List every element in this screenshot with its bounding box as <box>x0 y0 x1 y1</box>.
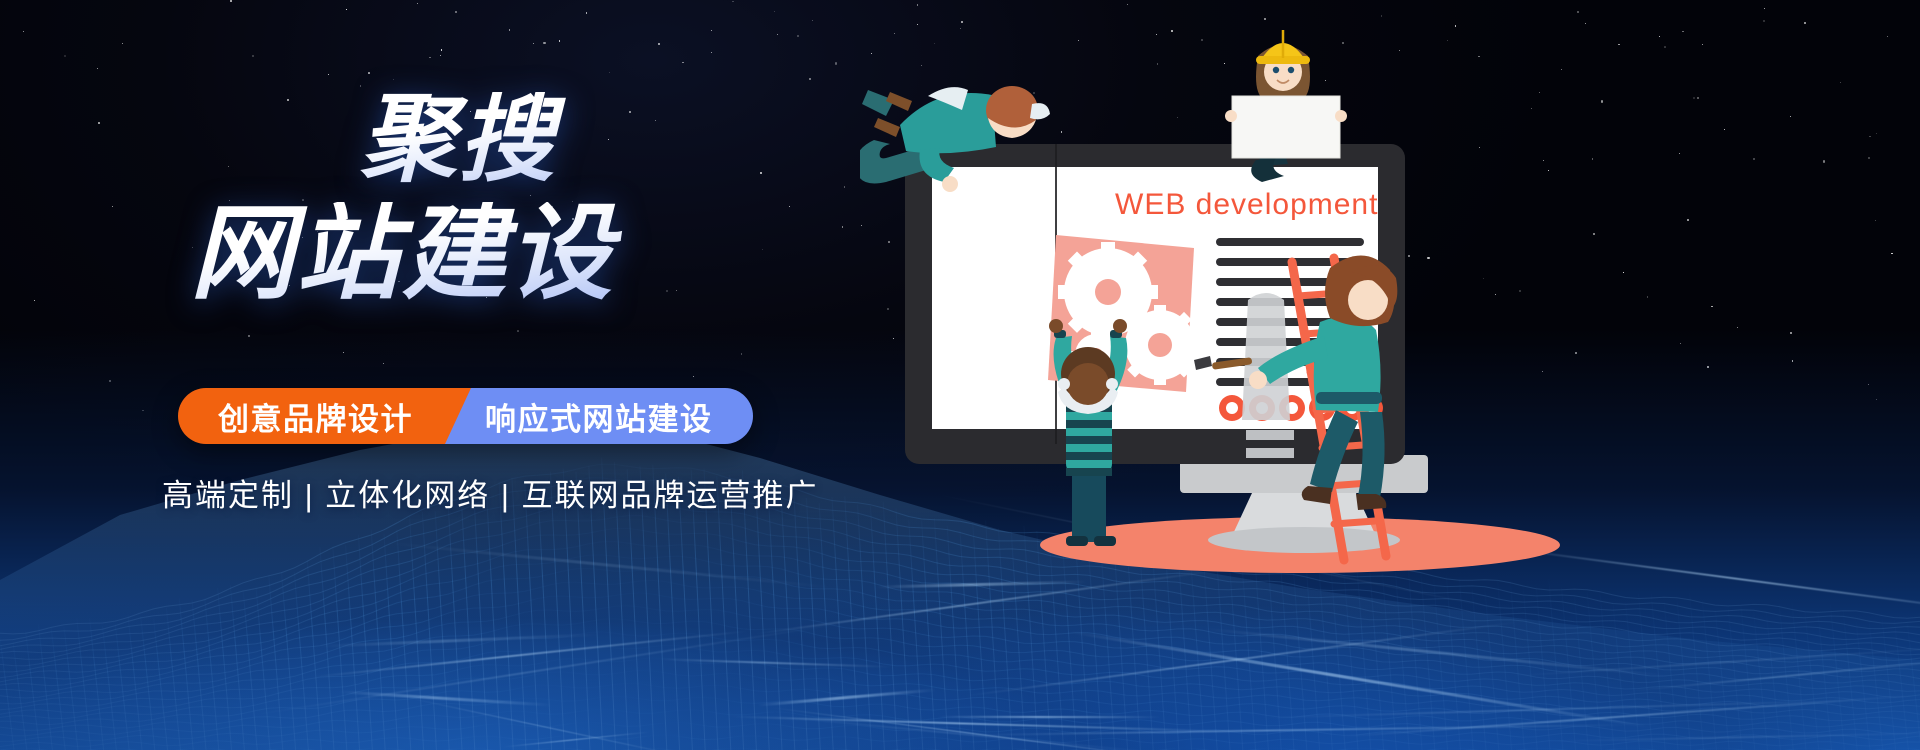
light-trail <box>338 690 553 706</box>
star <box>658 43 660 45</box>
painter-shoe-front <box>1356 494 1386 510</box>
star <box>252 55 254 57</box>
star <box>797 35 799 37</box>
star <box>711 30 712 31</box>
star <box>559 40 561 42</box>
star <box>682 62 684 64</box>
light-trail <box>317 633 601 647</box>
screen-title: WEB development <box>1115 188 1378 221</box>
star <box>429 57 431 59</box>
blueprint-sheet <box>1232 96 1340 158</box>
light-trail <box>658 658 892 667</box>
lifting-head <box>1067 363 1109 405</box>
star <box>441 49 442 50</box>
star <box>809 78 811 80</box>
star <box>440 55 441 56</box>
lifting-hand-right <box>1113 319 1127 333</box>
star <box>368 72 370 74</box>
architect-hand-left <box>1225 110 1237 122</box>
hero-banner: 聚搜 网站建设 创意品牌设计 响应式网站建设 高端定制 | 立体化网络 | 互联… <box>0 0 1920 750</box>
lifting-legs <box>1072 468 1106 542</box>
lifting-hand-left <box>1049 319 1063 333</box>
star <box>509 29 510 30</box>
star <box>98 122 100 124</box>
leaning-hand <box>942 176 958 192</box>
star <box>777 34 778 35</box>
star <box>64 55 66 57</box>
star <box>586 12 588 14</box>
star <box>122 43 124 45</box>
star <box>417 3 419 5</box>
painter-hand <box>1249 371 1267 389</box>
monitor-base <box>1208 527 1400 553</box>
painter-belt <box>1316 392 1382 404</box>
headline-block: 聚搜 网站建设 <box>160 92 860 306</box>
sub-headline: 网站建设 <box>190 202 860 306</box>
star <box>543 42 545 44</box>
light-trail <box>386 541 839 589</box>
star <box>23 31 24 32</box>
leaning-shoe-2 <box>874 118 900 137</box>
architect-hand-right <box>1335 110 1347 122</box>
star <box>711 52 712 53</box>
brand-headline: 聚搜 <box>360 92 860 188</box>
star <box>732 1 734 3</box>
feature-pill-group[interactable]: 创意品牌设计 响应式网站建设 <box>178 388 753 444</box>
star <box>34 300 35 301</box>
pill-responsive-website[interactable]: 响应式网站建设 <box>445 388 753 444</box>
star <box>393 79 394 80</box>
star <box>774 11 775 12</box>
illustration: WEB development <box>860 0 1920 750</box>
star <box>230 0 232 2</box>
star <box>97 68 98 69</box>
star <box>455 11 457 13</box>
star <box>812 20 813 21</box>
illustration-svg: WEB development <box>860 0 1920 750</box>
pill-creative-brand-design[interactable]: 创意品牌设计 <box>178 388 471 444</box>
tagline: 高端定制 | 立体化网络 | 互联网品牌运营推广 <box>162 470 819 515</box>
star <box>609 72 610 73</box>
star <box>835 62 837 64</box>
star <box>346 9 347 10</box>
star <box>328 74 329 75</box>
star <box>112 206 114 208</box>
star <box>533 43 534 44</box>
